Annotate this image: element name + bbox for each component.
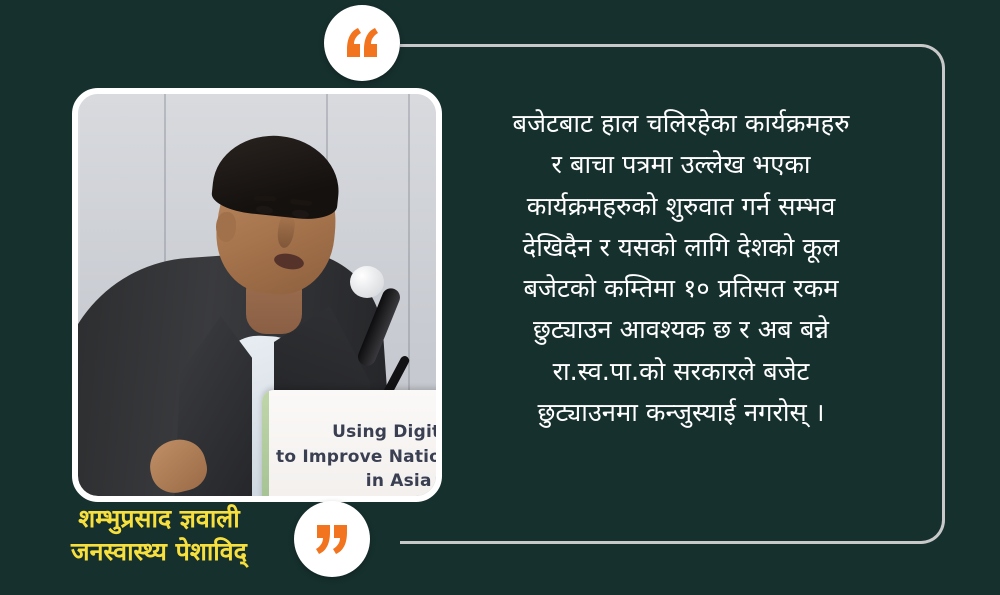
speaker-photo: Using Digital to Improve Nationa in Asia… bbox=[72, 88, 442, 502]
podium-sign: Using Digital to Improve Nationa in Asia… bbox=[262, 390, 436, 496]
microphone-head bbox=[350, 266, 384, 298]
quote-line-4: देखिदैन र यसको लागि देशको कूल bbox=[452, 228, 910, 269]
podium-sign-text: Using Digital to Improve Nationa in Asia… bbox=[276, 420, 436, 494]
eyebrow-left bbox=[254, 196, 276, 202]
speaker-title: जनस्वास्थ्य पेशाविद् bbox=[0, 536, 318, 569]
quote-line-1: बजेटबाट हाल चलिरहेका कार्यक्रमहरु bbox=[452, 104, 910, 145]
quote-line-8: छुट्याउनमा कन्जुस्याई नगरोस् । bbox=[452, 393, 910, 434]
close-quote-icon bbox=[315, 524, 349, 554]
podium-sign-line-1: Using Digital bbox=[276, 420, 436, 445]
quote-line-3: कार्यक्रमहरुको शुरुवात गर्न सम्भव bbox=[452, 187, 910, 228]
quote-line-7: रा.स्व.पा.को सरकारले बजेट bbox=[452, 352, 910, 393]
hair bbox=[210, 130, 344, 223]
speaker-name: शम्भुप्रसाद ज्ञवाली bbox=[0, 503, 318, 536]
photo-inner: Using Digital to Improve Nationa in Asia… bbox=[78, 94, 436, 496]
open-quote-badge bbox=[324, 5, 400, 81]
podium-accent-stripe bbox=[262, 390, 269, 496]
podium-sign-line-2: to Improve Nationa bbox=[276, 445, 436, 470]
podium-sign-line-3: in Asia ar bbox=[276, 469, 436, 494]
open-quote-icon bbox=[345, 28, 379, 58]
quote-line-5: बजेटको कम्तिमा १० प्रतिसत रकम bbox=[452, 269, 910, 310]
ear bbox=[216, 212, 236, 242]
quote-text: बजेटबाट हाल चलिरहेका कार्यक्रमहरु र बाचा… bbox=[452, 104, 910, 434]
quote-line-6: छुट्याउन आवश्यक छ र अब बन्ने bbox=[452, 310, 910, 351]
quote-line-2: र बाचा पत्रमा उल्लेख भएका bbox=[452, 145, 910, 186]
quote-card: Using Digital to Improve Nationa in Asia… bbox=[0, 0, 1000, 595]
speaker-credit: शम्भुप्रसाद ज्ञवाली जनस्वास्थ्य पेशाविद् bbox=[0, 503, 318, 568]
